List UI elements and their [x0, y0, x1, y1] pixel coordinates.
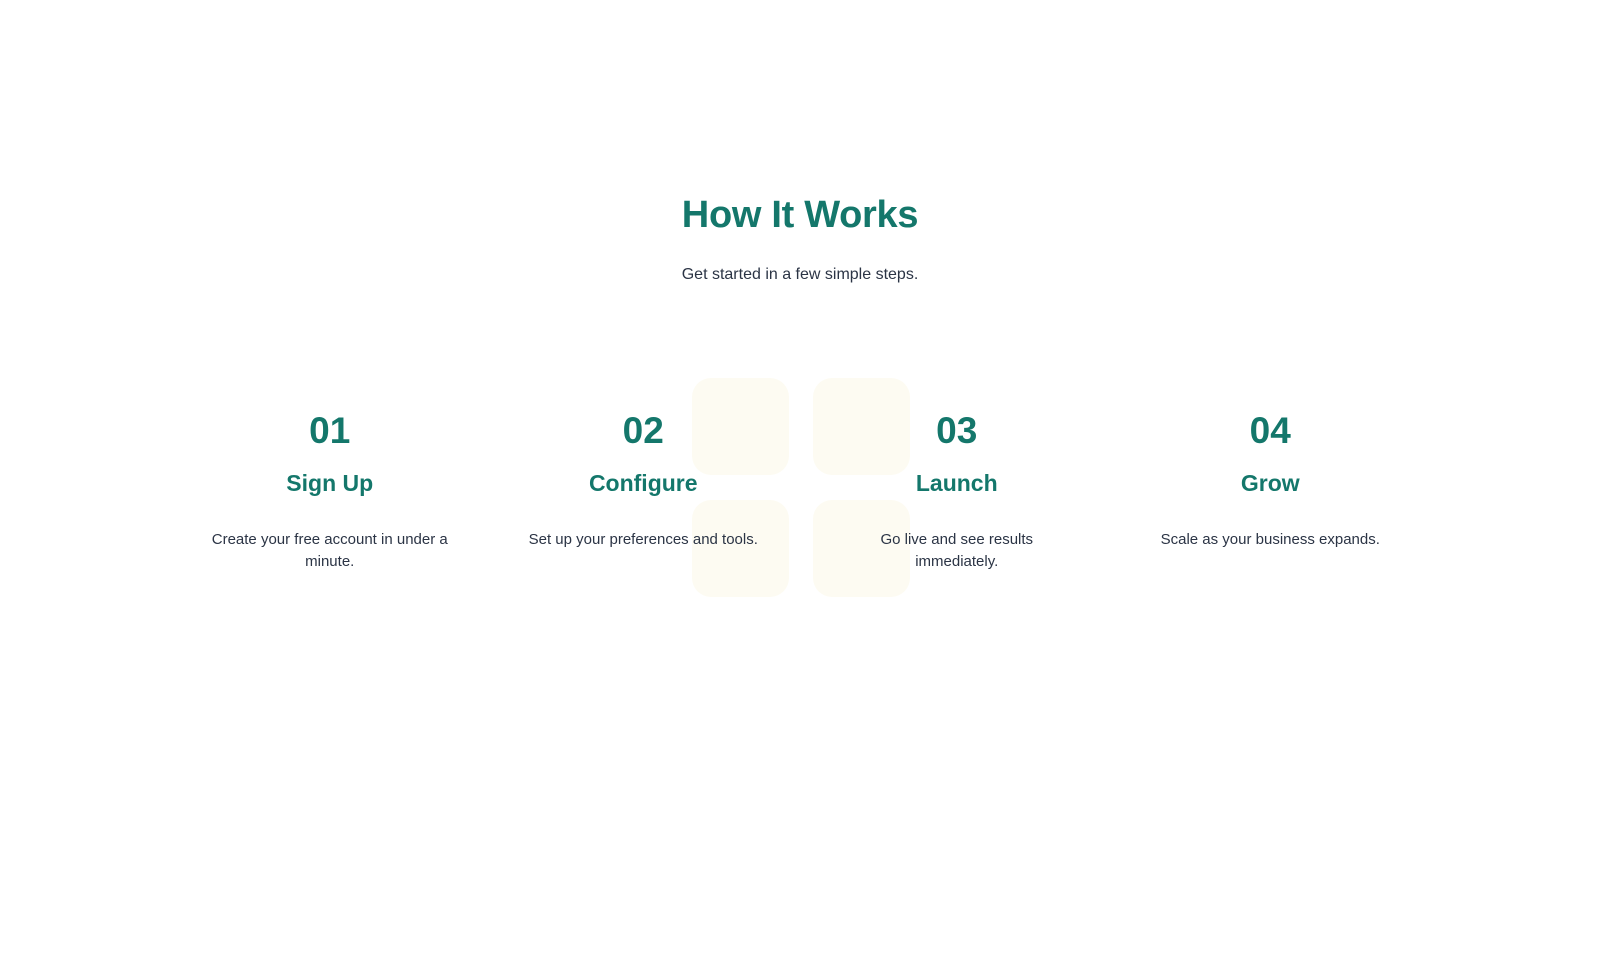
steps-grid: 01 Sign Up Create your free account in u… — [173, 412, 1427, 572]
step-card-3: 03 Launch Go live and see results immedi… — [800, 412, 1114, 572]
step-number: 01 — [191, 412, 469, 449]
step-description: Set up your preferences and tools. — [525, 529, 761, 550]
step-card-2: 02 Configure Set up your preferences and… — [487, 412, 801, 572]
step-description: Go live and see results immediately. — [839, 529, 1075, 572]
page-title: How It Works — [0, 193, 1600, 238]
step-number: 03 — [818, 412, 1096, 449]
step-title: Configure — [505, 470, 783, 496]
step-title: Sign Up — [191, 470, 469, 496]
step-title: Grow — [1132, 470, 1410, 496]
step-number: 04 — [1132, 412, 1410, 449]
step-card-4: 04 Grow Scale as your business expands. — [1114, 412, 1428, 572]
step-description: Create your free account in under a minu… — [212, 529, 448, 572]
section-subtitle: Get started in a few simple steps. — [0, 263, 1600, 287]
section-header: How It Works Get started in a few simple… — [0, 0, 1600, 287]
step-number: 02 — [505, 412, 783, 449]
step-title: Launch — [818, 470, 1096, 496]
page-root: How It Works Get started in a few simple… — [0, 0, 1600, 978]
step-description: Scale as your business expands. — [1152, 529, 1388, 550]
step-card-1: 01 Sign Up Create your free account in u… — [173, 412, 487, 572]
how-it-works-section: How It Works Get started in a few simple… — [0, 0, 1600, 572]
